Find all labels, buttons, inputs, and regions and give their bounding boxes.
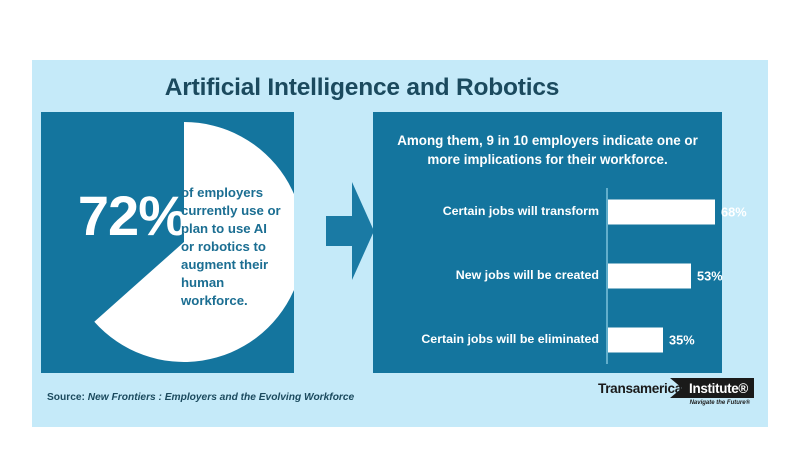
pie-description-text: of employers currently use or plan to us… — [181, 184, 281, 310]
bar-label: Certain jobs will be eliminated — [403, 332, 599, 348]
bar-chart-panel: Among them, 9 in 10 employers indicate o… — [373, 112, 722, 373]
bar-value: 53% — [697, 269, 723, 284]
pie-percent-label: 72% — [47, 188, 187, 244]
bar-row: Certain jobs will be eliminated 35% — [373, 322, 722, 358]
source-label: Source: — [47, 392, 85, 403]
bar-chart-heading: Among them, 9 in 10 employers indicate o… — [389, 131, 706, 169]
bar-label: New jobs will be created — [403, 268, 599, 284]
bar-fill — [608, 200, 715, 225]
bar-row: Certain jobs will transform 68% — [373, 194, 722, 230]
pie-chart-panel: 72% of employers currently use or plan t… — [41, 112, 294, 373]
page-title: Artificial Intelligence and Robotics — [32, 74, 692, 102]
source-citation: Source: New Frontiers : Employers and th… — [47, 392, 354, 403]
logo-row: Transamerica Institute® — [598, 378, 754, 398]
bar-fill — [608, 264, 691, 289]
infographic-canvas: Artificial Intelligence and Robotics 72%… — [32, 60, 768, 427]
right-arrow-icon — [326, 182, 374, 280]
bar-value: 35% — [669, 333, 695, 348]
transamerica-institute-logo: Transamerica Institute® Navigate the Fut… — [598, 378, 754, 410]
bar-row: New jobs will be created 53% — [373, 258, 722, 294]
logo-tagline: Navigate the Future® — [690, 400, 750, 406]
bar-label: Certain jobs will transform — [403, 204, 599, 220]
bar-fill — [608, 328, 663, 353]
bar-value: 68% — [721, 205, 747, 220]
bar-chart: Certain jobs will transform 68% New jobs… — [373, 188, 722, 364]
source-title: New Frontiers : Employers and the Evolvi… — [88, 392, 354, 403]
logo-unit-text: Institute® — [689, 381, 748, 396]
